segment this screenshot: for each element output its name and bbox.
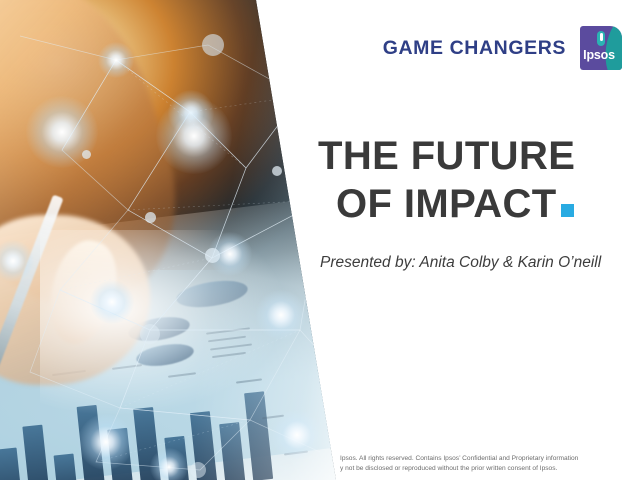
photo-network-node <box>272 166 282 176</box>
title-line-2: OF IMPACT <box>336 182 557 226</box>
page-title: THE FUTURE OF IMPACT <box>318 132 636 228</box>
photo-network-node <box>140 324 160 344</box>
legal-footer: Ipsos. All rights reserved. Contains Ips… <box>340 454 636 474</box>
tagline-game-changers: GAME CHANGERS <box>383 37 566 60</box>
ipsos-logo: Ipsos <box>580 26 622 70</box>
legal-footer-line-1: Ipsos. All rights reserved. Contains Ips… <box>340 454 636 464</box>
title-line-2-row: OF IMPACT <box>318 180 636 228</box>
title-accent-period <box>561 204 574 217</box>
logo-pill-dot <box>600 33 603 41</box>
photo-network-node <box>202 34 224 56</box>
hero-photo <box>0 0 340 480</box>
legal-footer-line-2: y not be disclosed or reproduced without… <box>340 464 636 474</box>
photo-network-node <box>82 150 91 159</box>
photo-network-node <box>205 248 220 263</box>
title-line-1: THE FUTURE <box>318 132 636 180</box>
photo-network-node <box>145 212 156 223</box>
photo-network-node <box>190 462 206 478</box>
logo-wordmark: Ipsos <box>580 48 618 62</box>
photo-network-overlay <box>0 0 340 480</box>
presentation-slide: GAME CHANGERS Ipsos THE FUTURE OF IMPACT… <box>0 0 640 480</box>
presenter-credit: Presented by: Anita Colby & Karin O’neil… <box>320 254 601 272</box>
brand-header: GAME CHANGERS Ipsos <box>383 26 622 70</box>
